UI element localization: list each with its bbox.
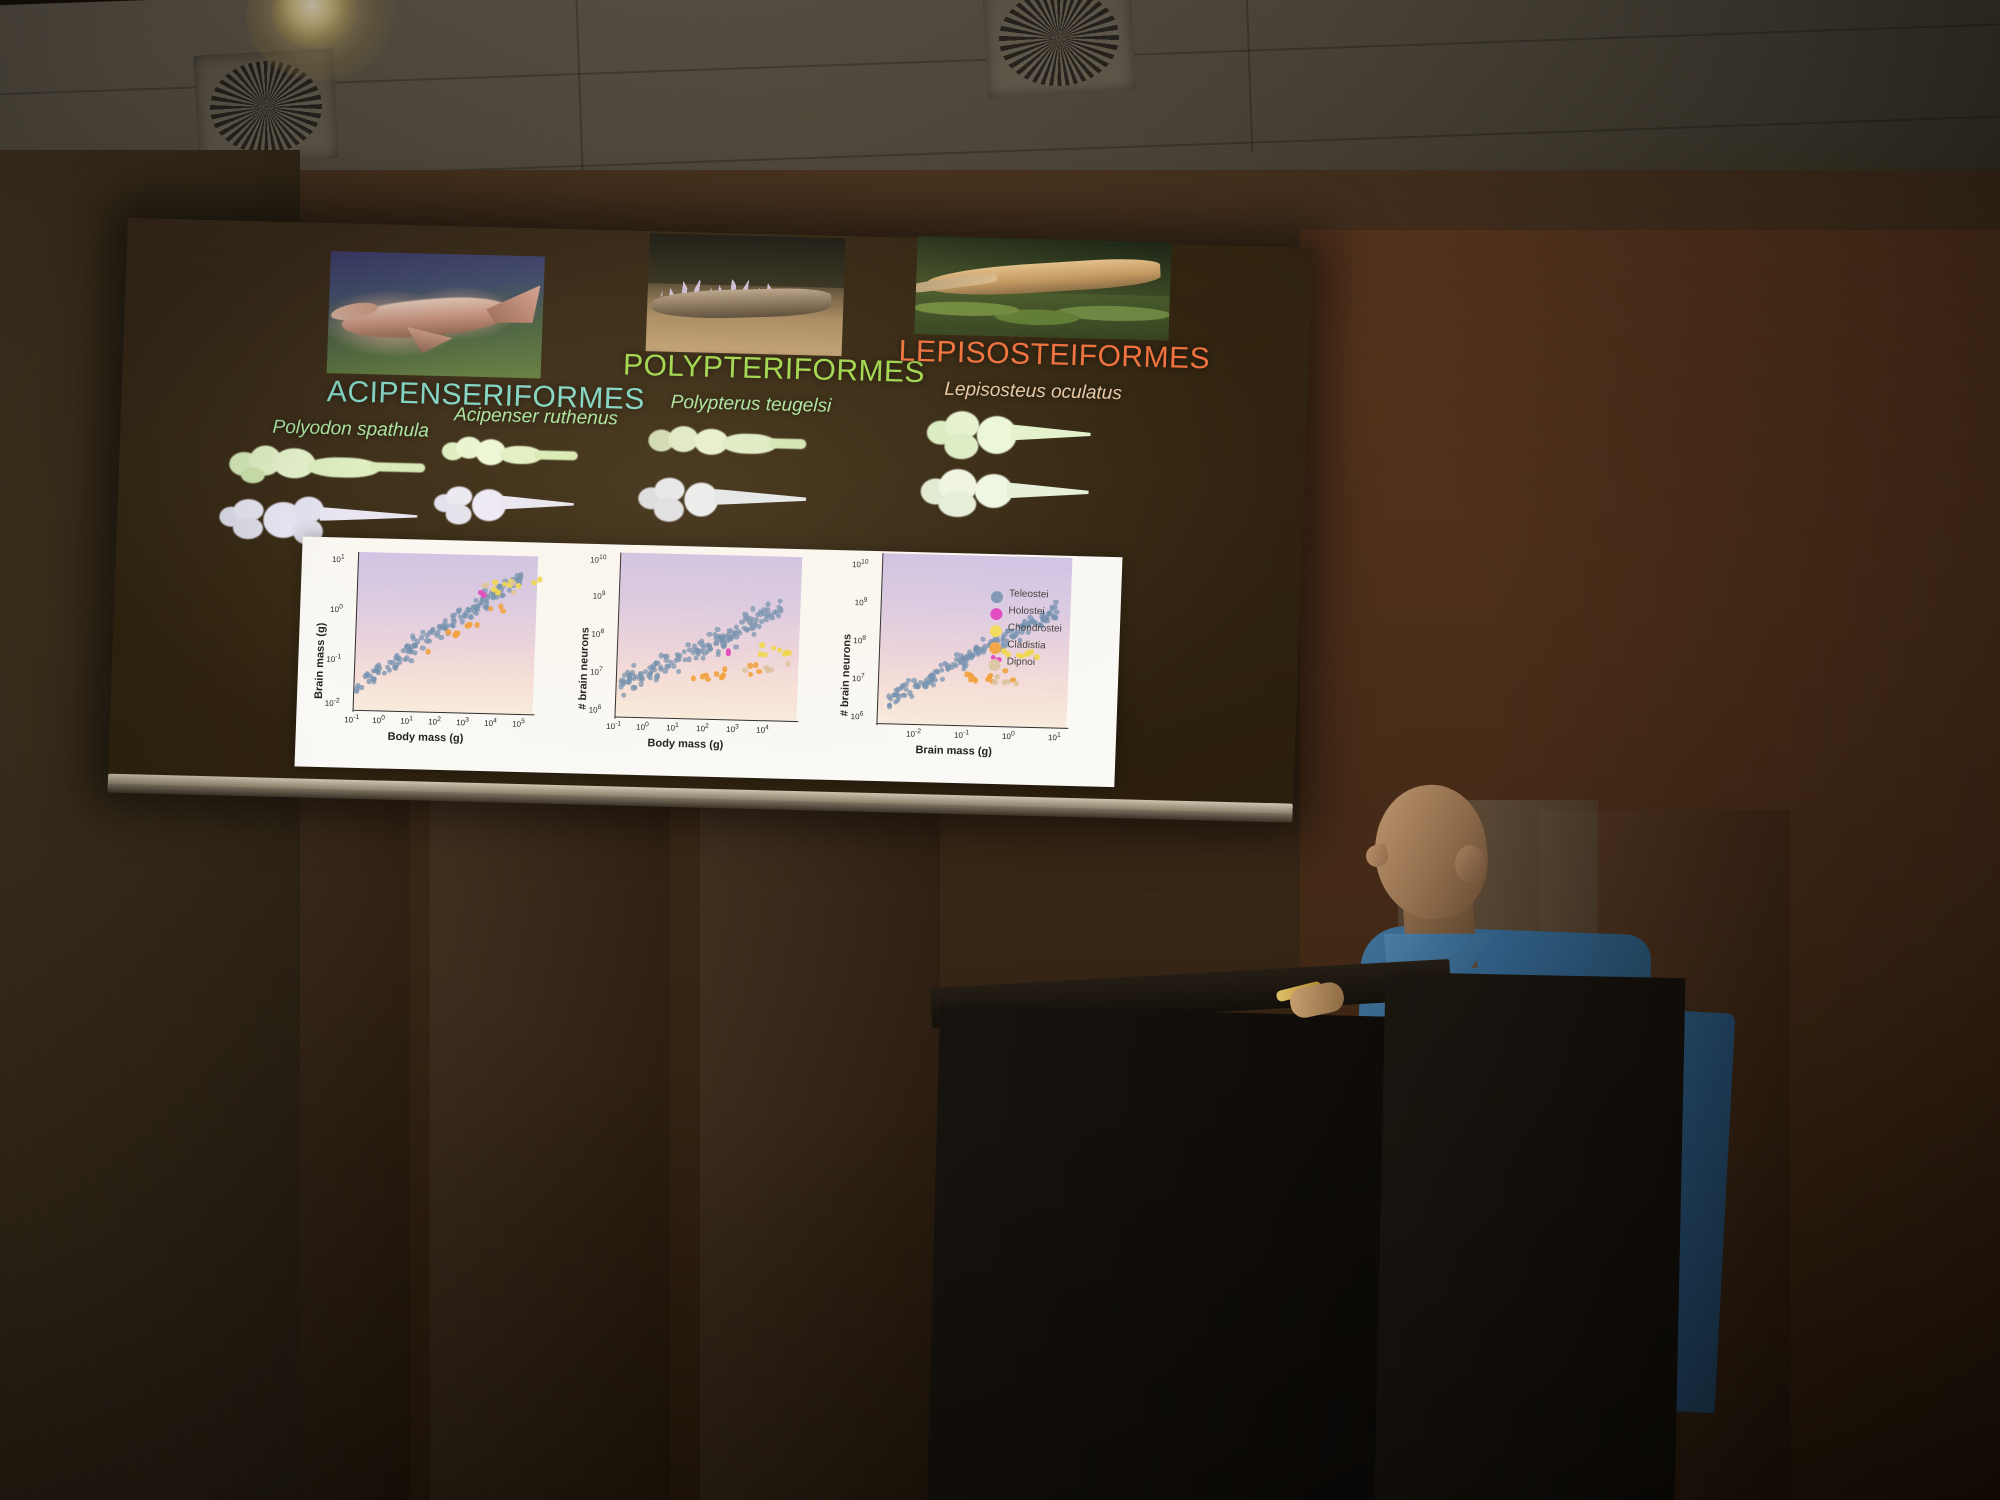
data-point <box>705 676 711 682</box>
brain-polyodon-lateral <box>228 443 425 492</box>
plot1-xtick-4: 103 <box>456 716 469 727</box>
data-point <box>397 660 402 665</box>
data-point <box>701 656 706 661</box>
data-point <box>371 679 376 684</box>
data-point <box>992 679 998 685</box>
plot2-xtick-2: 101 <box>666 722 679 733</box>
plot3-xlabel: Brain mass (g) <box>915 744 992 758</box>
plot2-xtick-0: 10-1 <box>606 720 621 731</box>
data-point <box>382 671 387 676</box>
data-point <box>778 598 783 603</box>
legend-dot-dipnoi <box>988 659 1000 671</box>
data-point <box>375 670 380 675</box>
data-point <box>631 662 636 667</box>
data-point <box>762 652 768 658</box>
plot3-xtick-0: 10-2 <box>906 728 921 739</box>
data-point <box>516 583 522 589</box>
legend-dot-cladistia <box>989 642 1001 654</box>
data-point <box>459 619 464 624</box>
data-point <box>633 685 638 690</box>
data-point <box>412 650 417 655</box>
data-point <box>621 692 626 697</box>
data-point <box>445 629 451 635</box>
legend-label-holostei: Holostei <box>1008 605 1045 617</box>
data-point <box>638 682 643 687</box>
plot3-ytick-2: 108 <box>853 634 866 645</box>
data-point <box>648 665 653 670</box>
data-point <box>725 651 731 657</box>
plot2-ytick-2: 108 <box>591 628 604 639</box>
data-point <box>463 610 468 615</box>
sturgeon-photo <box>327 251 545 378</box>
data-point <box>940 677 945 682</box>
data-point <box>627 680 632 685</box>
plot2-xlabel: Body mass (g) <box>647 737 723 751</box>
data-point <box>438 635 443 640</box>
projection-screen: ACIPENSERIFORMES POLYPTERIFORMES LEPISOS… <box>108 218 1313 818</box>
species-polypterus-teugelsi: Polypterus teugelsi <box>670 392 831 418</box>
data-point <box>699 648 704 653</box>
plot1-xtick-1: 100 <box>372 714 385 725</box>
data-point <box>387 659 392 664</box>
data-point <box>395 655 400 660</box>
species-polyodon-spathula: Polyodon spathula <box>272 417 429 443</box>
data-point <box>618 684 623 689</box>
plot1-xtick-3: 102 <box>428 716 441 727</box>
data-point <box>359 685 364 690</box>
data-point <box>1014 681 1020 687</box>
legend-label-chondrostei: Chondrostei <box>1008 622 1062 634</box>
data-point <box>768 667 774 673</box>
data-point <box>785 661 791 667</box>
data-point <box>954 663 959 668</box>
data-point <box>537 577 543 583</box>
data-point <box>666 663 671 668</box>
data-point <box>648 671 653 676</box>
data-point <box>916 684 921 689</box>
species-lepisosteus-oculatus: Lepisosteus oculatus <box>944 379 1122 405</box>
data-point <box>500 608 506 614</box>
data-point <box>778 608 783 613</box>
data-point <box>762 607 767 612</box>
ceiling-vent-right <box>982 0 1136 98</box>
photograph-scene: ACIPENSERIFORMES POLYPTERIFORMES LEPISOS… <box>0 0 2000 1500</box>
data-point <box>728 636 733 641</box>
data-point <box>759 642 765 648</box>
data-point <box>412 644 417 649</box>
data-point <box>893 700 898 705</box>
data-point <box>662 654 667 659</box>
legend-label-dipnoi: Dipnoi <box>1006 656 1035 668</box>
data-point <box>675 654 680 659</box>
plot3-xtick-2: 100 <box>1002 730 1015 741</box>
plot3-xtick-3: 101 <box>1048 731 1061 742</box>
chart-panel: Brain mass (g) Body mass (g) 10-2 10-1 1… <box>294 537 1122 788</box>
data-point <box>980 636 985 641</box>
data-point <box>409 658 414 663</box>
legend-label-teleostei: Teleostei <box>1009 588 1049 600</box>
data-point <box>483 582 489 588</box>
data-point <box>653 677 658 682</box>
data-point <box>748 671 754 677</box>
data-point <box>492 580 498 586</box>
data-point <box>511 590 517 596</box>
plot1-ytick-2: 100 <box>330 603 343 614</box>
plot1-points <box>353 552 541 715</box>
data-point <box>753 662 759 668</box>
data-point <box>427 630 432 635</box>
data-point <box>488 606 494 612</box>
gar-photo <box>914 236 1171 340</box>
plot2-ytick-3: 109 <box>593 590 606 601</box>
data-point <box>994 674 1000 680</box>
legend-dot-teleostei <box>991 591 1003 603</box>
data-point <box>759 619 764 624</box>
data-point <box>686 657 691 662</box>
data-point <box>630 670 635 675</box>
data-point <box>676 669 681 674</box>
plot2-ytick-1: 107 <box>590 666 603 677</box>
brain-polypterus-lateral <box>647 423 804 469</box>
plot2-xtick-4: 103 <box>726 723 739 734</box>
data-point <box>734 634 739 639</box>
data-point <box>424 638 429 643</box>
data-point <box>404 656 409 661</box>
data-point <box>452 619 457 624</box>
speaker-ear <box>1455 845 1485 883</box>
data-point <box>770 645 776 651</box>
data-point <box>363 673 368 678</box>
plot1-xtick-5: 104 <box>484 717 497 728</box>
plot3-ytick-3: 109 <box>855 596 868 607</box>
plot2-ytick-4: 1010 <box>590 554 607 565</box>
plot2-xtick-1: 100 <box>636 721 649 732</box>
data-point <box>465 623 471 629</box>
legend-dot-holostei <box>990 608 1002 620</box>
data-point <box>939 668 944 673</box>
legend-item-dipnoi: Dipnoi <box>988 656 1099 676</box>
bichir-photo <box>646 233 846 356</box>
data-point <box>699 674 705 680</box>
data-point <box>495 589 501 595</box>
data-point <box>685 642 690 647</box>
plot1-ytick-3: 101 <box>332 553 345 564</box>
data-point <box>927 679 932 684</box>
data-point <box>653 661 658 666</box>
data-point <box>783 649 789 655</box>
data-point <box>756 669 762 675</box>
data-point <box>739 620 744 625</box>
data-point <box>713 641 718 646</box>
brain-polypterus-dorsal <box>637 473 807 527</box>
plot2-xtick-3: 102 <box>696 723 709 734</box>
data-point <box>766 602 771 607</box>
plot2-ytick-0: 106 <box>589 704 602 715</box>
plot1-xtick-2: 101 <box>400 715 413 726</box>
plot3-xtick-1: 10-1 <box>954 729 969 740</box>
wall-panel-b <box>430 780 670 1500</box>
data-point <box>468 607 473 612</box>
data-point <box>887 702 892 707</box>
data-point <box>923 684 928 689</box>
brain-acipenser-lateral <box>441 434 577 479</box>
data-point <box>751 632 756 637</box>
data-point <box>1005 679 1011 685</box>
data-point <box>456 609 461 614</box>
data-point <box>663 668 668 673</box>
brain-lepisosteus-dorsal <box>926 408 1090 462</box>
data-point <box>531 580 537 586</box>
data-point <box>972 677 978 683</box>
data-point <box>491 595 496 600</box>
data-point <box>980 650 985 655</box>
data-point <box>733 624 738 629</box>
wall-panel-c <box>700 790 940 1500</box>
data-point <box>474 611 479 616</box>
plot2-points <box>614 553 804 722</box>
data-point <box>420 646 425 651</box>
plot1-xtick-6: 105 <box>512 718 525 729</box>
data-point <box>723 634 728 639</box>
podium <box>927 1005 1400 1500</box>
data-point <box>620 678 625 683</box>
plot1-ytick-0: 10-2 <box>325 697 340 708</box>
data-point <box>750 606 755 611</box>
legend-label-cladistia: Cladistia <box>1007 639 1046 651</box>
brain-lepisosteus-lateral <box>920 464 1088 520</box>
data-point <box>721 672 727 678</box>
plot1-xlabel: Body mass (g) <box>387 731 463 745</box>
plot1-xtick-0: 10-1 <box>344 714 359 725</box>
plot1-ytick-1: 10-1 <box>326 653 341 664</box>
data-point <box>707 632 712 637</box>
data-point <box>474 622 480 628</box>
data-point <box>410 634 415 639</box>
data-point <box>707 646 712 651</box>
plot3-ytick-0: 106 <box>850 710 863 721</box>
data-point <box>419 635 424 640</box>
data-point <box>425 649 431 655</box>
data-point <box>911 678 916 683</box>
chart-legend: Teleostei Holostei Chondrostei Cladistia… <box>988 588 1101 676</box>
podium-side-panel <box>1374 972 1685 1500</box>
data-point <box>510 580 516 586</box>
species-acipenser-ruthenus: Acipenser ruthenus <box>454 404 618 430</box>
plot2-xtick-5: 104 <box>756 724 769 735</box>
plot3-ytick-1: 107 <box>852 672 865 683</box>
legend-dot-chondrostei <box>990 625 1002 637</box>
brain-acipenser-dorsal <box>433 482 577 532</box>
data-point <box>454 631 460 637</box>
data-point <box>909 694 914 699</box>
data-point <box>744 614 749 619</box>
data-point <box>671 663 676 668</box>
data-point <box>691 676 697 682</box>
data-point <box>733 644 738 649</box>
plot3-ytick-4: 1010 <box>852 558 869 569</box>
data-point <box>682 649 687 654</box>
